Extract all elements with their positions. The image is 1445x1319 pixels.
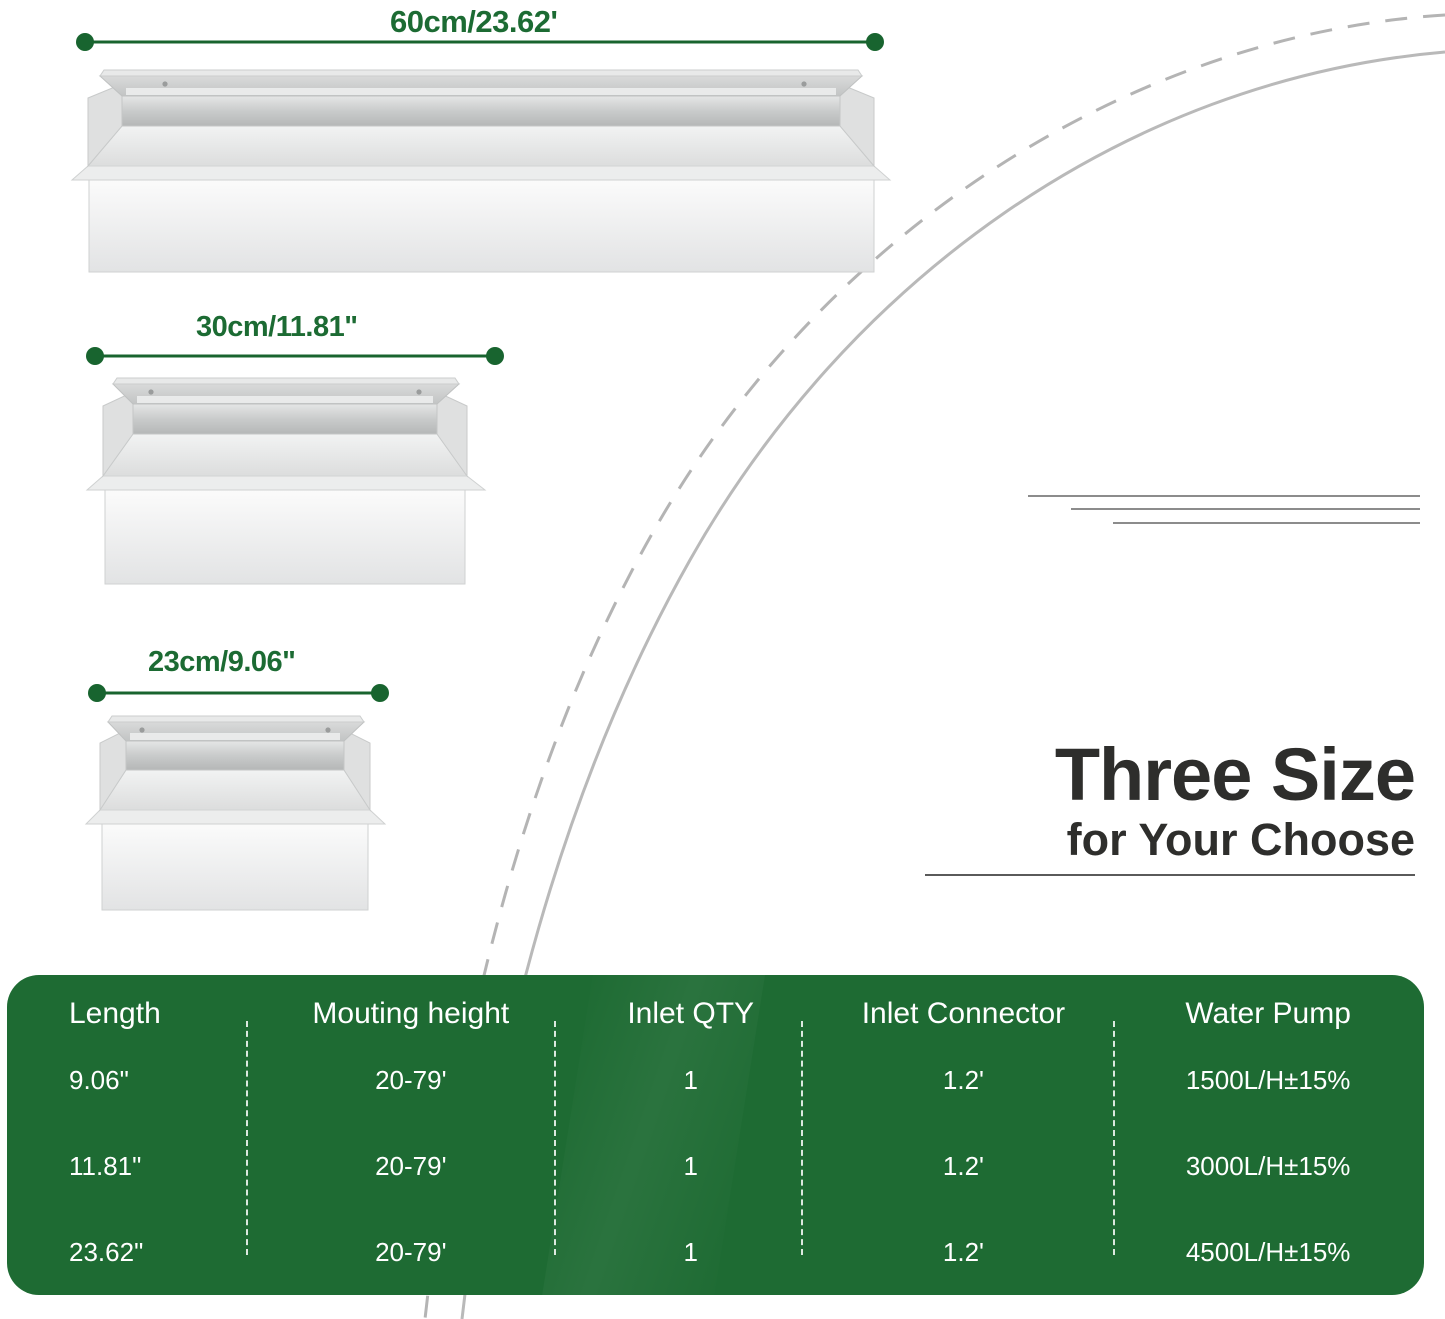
decorative-rule-1 (1028, 495, 1420, 497)
cell-inlet-qty: 1 (567, 1209, 815, 1295)
spec-table: Length Mouting height Inlet QTY Inlet Co… (7, 975, 1424, 1295)
product-image-23cm (78, 710, 396, 915)
dimension-line-30cm (95, 348, 495, 364)
decorative-rule-3 (1113, 522, 1420, 524)
cell-length: 11.81" (7, 1123, 255, 1209)
cell-inlet-connector: 1.2' (815, 1209, 1113, 1295)
column-header-inlet-connector: Inlet Connector (815, 975, 1113, 1037)
product-image-30cm (75, 372, 498, 590)
cell-length: 9.06" (7, 1037, 255, 1123)
headline-line-1: Three Size (925, 740, 1415, 810)
dimension-label-30cm: 30cm/11.81" (196, 311, 357, 344)
table-header-row: Length Mouting height Inlet QTY Inlet Co… (7, 975, 1424, 1037)
cell-inlet-connector: 1.2' (815, 1037, 1113, 1123)
column-header-mounting-height: Mouting height (255, 975, 567, 1037)
infographic-canvas: 60cm/23.62' (0, 0, 1445, 1319)
cell-mounting-height: 20-79' (255, 1123, 567, 1209)
dimension-endpoint-left (88, 684, 106, 702)
dimension-endpoint-left (86, 347, 104, 365)
dimension-endpoint-right (866, 33, 884, 51)
headline-block: Three Size for Your Choose (925, 740, 1415, 876)
cell-water-pump: 1500L/H±15% (1112, 1037, 1424, 1123)
column-header-water-pump: Water Pump (1112, 975, 1424, 1037)
table-row: 9.06" 20-79' 1 1.2' 1500L/H±15% (7, 1037, 1424, 1123)
spec-table-panel: Length Mouting height Inlet QTY Inlet Co… (7, 975, 1424, 1295)
headline-underline (925, 874, 1415, 876)
table-row: 23.62" 20-79' 1 1.2' 4500L/H±15% (7, 1209, 1424, 1295)
cell-mounting-height: 20-79' (255, 1209, 567, 1295)
dimension-label-60cm: 60cm/23.62' (390, 4, 557, 40)
column-header-length: Length (7, 975, 255, 1037)
dimension-label-23cm: 23cm/9.06" (148, 646, 295, 679)
headline-line-2: for Your Choose (925, 816, 1415, 863)
decorative-rule-2 (1071, 508, 1420, 510)
dimension-line-23cm (97, 685, 380, 701)
decorative-rule-stack (1028, 495, 1420, 535)
cell-length: 23.62" (7, 1209, 255, 1295)
column-header-inlet-qty: Inlet QTY (567, 975, 815, 1037)
dimension-endpoint-left (76, 33, 94, 51)
dimension-bar (85, 41, 875, 44)
cell-inlet-qty: 1 (567, 1123, 815, 1209)
dimension-endpoint-right (486, 347, 504, 365)
cell-water-pump: 3000L/H±15% (1112, 1123, 1424, 1209)
dimension-bar (95, 355, 495, 358)
dimension-bar (97, 692, 380, 695)
dimension-endpoint-right (371, 684, 389, 702)
cell-mounting-height: 20-79' (255, 1037, 567, 1123)
cell-inlet-connector: 1.2' (815, 1123, 1113, 1209)
product-image-60cm (62, 62, 900, 280)
table-row: 11.81" 20-79' 1 1.2' 3000L/H±15% (7, 1123, 1424, 1209)
cell-inlet-qty: 1 (567, 1037, 815, 1123)
cell-water-pump: 4500L/H±15% (1112, 1209, 1424, 1295)
